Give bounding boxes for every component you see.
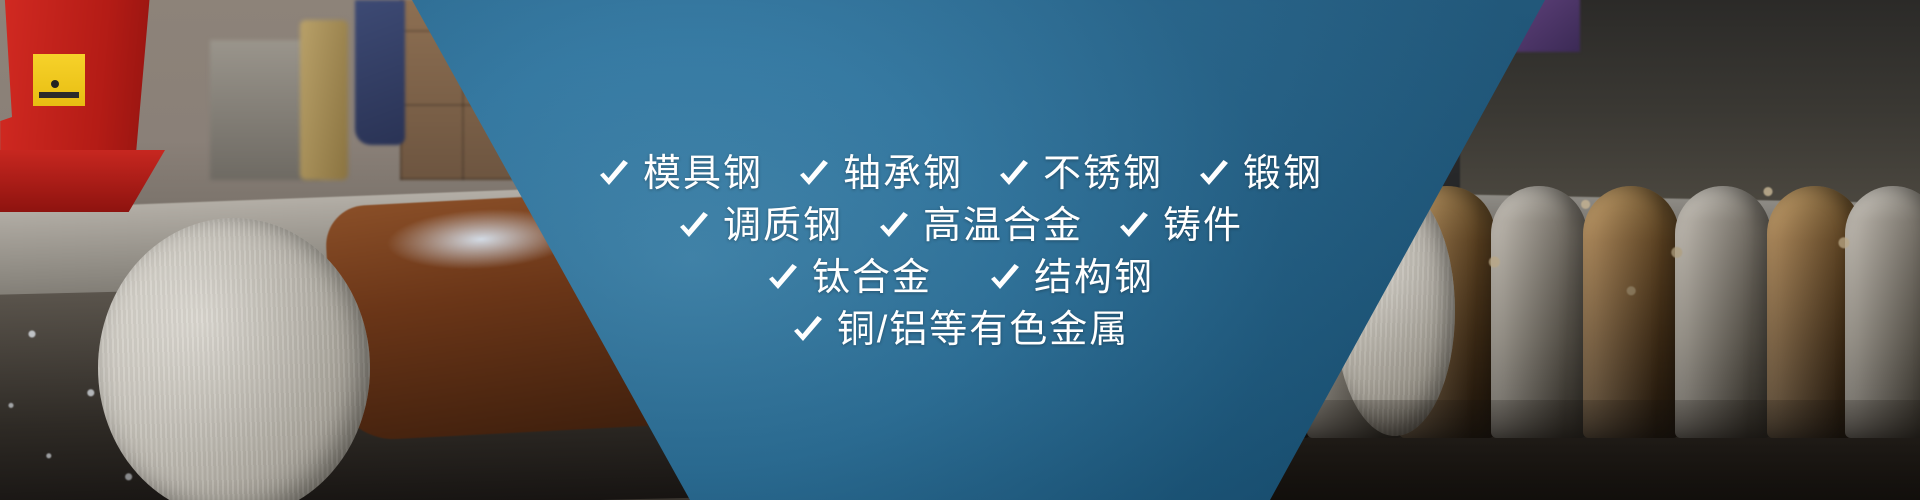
check-mark-icon bbox=[677, 212, 711, 242]
check-mark-icon bbox=[1197, 160, 1231, 190]
check-mark-icon bbox=[997, 160, 1031, 190]
keyword-item[interactable]: 高温合金 bbox=[877, 207, 1083, 247]
keyword-row-4: 铜/铝等有色金属 bbox=[791, 311, 1130, 351]
keyword-label: 调质钢 bbox=[723, 207, 843, 247]
keyword-label: 不锈钢 bbox=[1043, 155, 1163, 195]
keyword-item[interactable]: 锻钢 bbox=[1197, 155, 1323, 195]
check-mark-icon bbox=[797, 160, 831, 190]
keyword-row-1: 模具钢 轴承钢 不锈钢 锻钢 bbox=[597, 155, 1323, 195]
keyword-row-2: 调质钢 高温合金 铸件 bbox=[677, 207, 1243, 247]
keyword-item[interactable]: 铸件 bbox=[1117, 207, 1243, 247]
keyword-label: 轴承钢 bbox=[843, 155, 963, 195]
keyword-label: 锻钢 bbox=[1243, 155, 1323, 195]
keyword-item[interactable]: 钛合金 bbox=[766, 259, 932, 299]
keyword-label: 钛合金 bbox=[812, 259, 932, 299]
keyword-item[interactable]: 模具钢 bbox=[597, 155, 763, 195]
keyword-label: 模具钢 bbox=[643, 155, 763, 195]
product-category-banner: 模具钢 轴承钢 不锈钢 锻钢 bbox=[0, 0, 1920, 500]
check-mark-icon bbox=[766, 264, 800, 294]
keyword-item[interactable]: 铜/铝等有色金属 bbox=[791, 311, 1130, 351]
keyword-label: 铸件 bbox=[1163, 207, 1243, 247]
check-mark-icon bbox=[1117, 212, 1151, 242]
check-mark-icon bbox=[988, 264, 1022, 294]
keyword-label: 结构钢 bbox=[1034, 259, 1154, 299]
check-mark-icon bbox=[791, 316, 825, 346]
keyword-item[interactable]: 调质钢 bbox=[677, 207, 843, 247]
check-mark-icon bbox=[597, 160, 631, 190]
keyword-item[interactable]: 轴承钢 bbox=[797, 155, 963, 195]
check-mark-icon bbox=[877, 212, 911, 242]
keyword-row-3: 钛合金 结构钢 bbox=[766, 259, 1154, 299]
keyword-label: 铜/铝等有色金属 bbox=[837, 311, 1130, 351]
keyword-item[interactable]: 不锈钢 bbox=[997, 155, 1163, 195]
keyword-label: 高温合金 bbox=[923, 207, 1083, 247]
product-keyword-list: 模具钢 轴承钢 不锈钢 锻钢 bbox=[0, 0, 1920, 500]
keyword-item[interactable]: 结构钢 bbox=[988, 259, 1154, 299]
